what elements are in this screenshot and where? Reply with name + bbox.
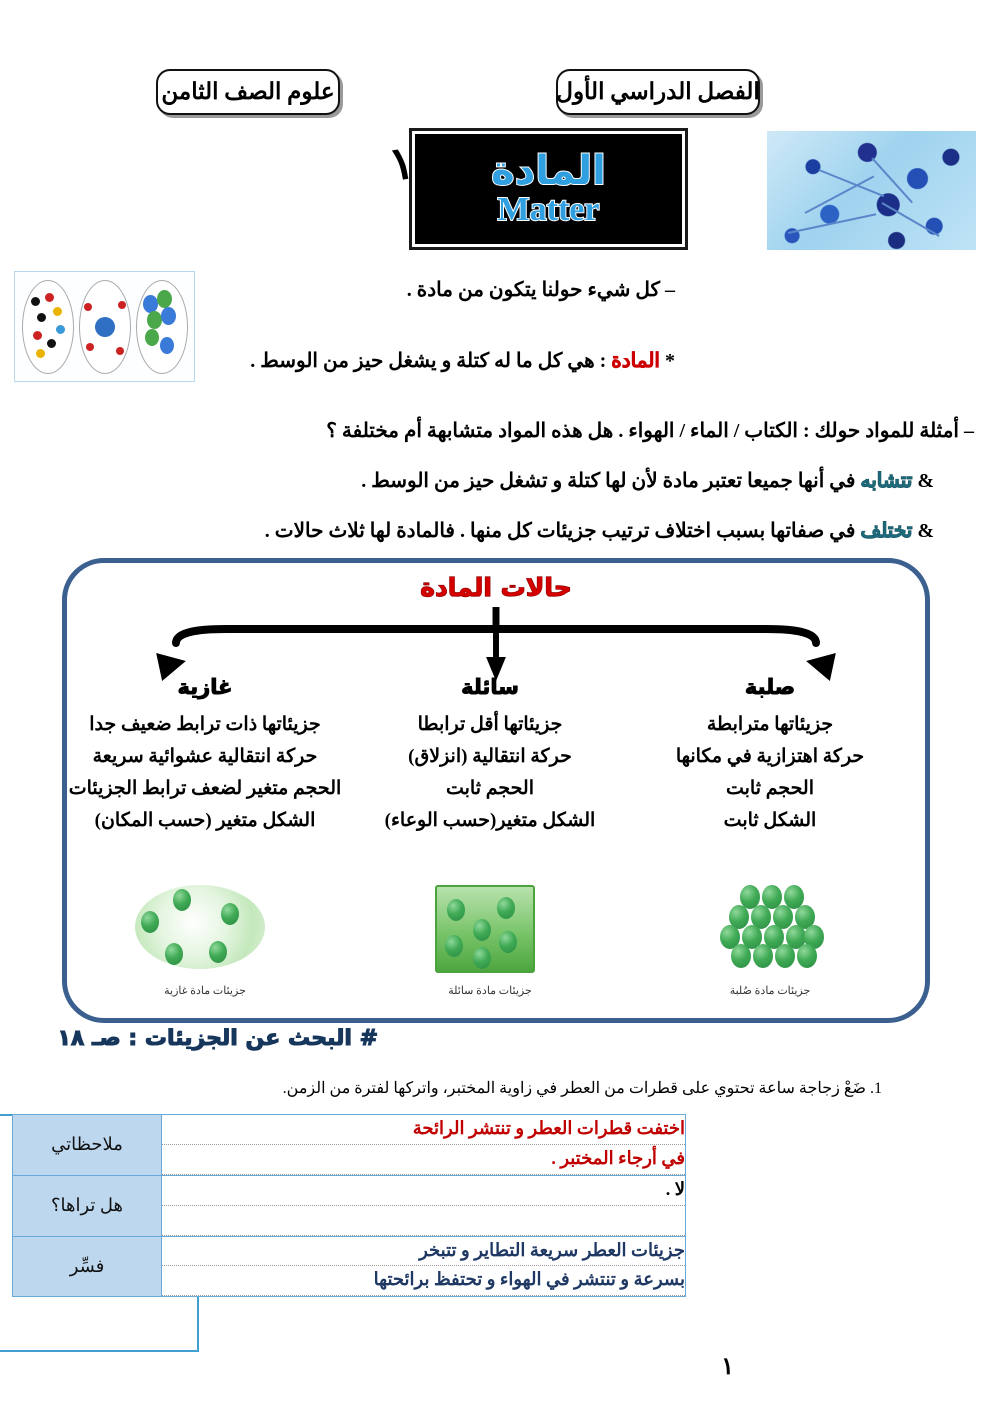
- grade-label-box: علوم الصف الثامن: [156, 69, 340, 115]
- state-property: حركة اهتزازية في مكانها: [625, 741, 915, 773]
- table-row: جزيئات العطر سريعة التطاير و تتبخر بسرعة…: [13, 1236, 686, 1297]
- atom-oval-compound: [22, 280, 74, 374]
- activity-heading: # البحث عن الجزيئات : صـ ١٨: [57, 1026, 378, 1051]
- state-property: الحجم متغير لضعف ترابط الجزيئات: [60, 773, 350, 805]
- state-property: جزيئاتها مترابطة: [625, 709, 915, 741]
- state-property: جزيئاتها ذات ترابط ضعيف جدا: [60, 709, 350, 741]
- gas-molecules-figure: جزيئات مادة غازية: [60, 883, 350, 983]
- bond-line: [881, 203, 939, 238]
- bullet-marker: &: [917, 470, 934, 492]
- term-label-text: الفصل الدراسي الأول: [556, 79, 760, 105]
- state-property: حركة انتقالية (انزلاق): [345, 741, 635, 773]
- table-row: اختفت قطرات العطر و تنتشر الرائحة في أرج…: [13, 1115, 686, 1176]
- state-property: الحجم ثابت: [345, 773, 635, 805]
- answer-line: في أرجاء المختبر .: [162, 1145, 685, 1175]
- grade-label-text: علوم الصف الثامن: [161, 79, 334, 105]
- row-label-observations: ملاحظاتي: [13, 1115, 162, 1176]
- state-column-liquid: سائلة جزيئاتها أقل ترابطا حركة انتقالية …: [345, 675, 635, 837]
- term-label-box: الفصل الدراسي الأول: [556, 69, 760, 115]
- keyword-different: تختلف: [860, 520, 912, 542]
- title-banner: المادة Matter: [412, 131, 685, 247]
- answer-cell-explanation[interactable]: جزيئات العطر سريعة التطاير و تتبخر بسرعة…: [162, 1236, 686, 1297]
- state-name-gas: غازية: [60, 675, 350, 699]
- answer-cell-observations[interactable]: اختفت قطرات العطر و تنتشر الرائحة في أرج…: [162, 1115, 686, 1176]
- row-label-visibility: هل تراها؟: [13, 1175, 162, 1236]
- state-property: جزيئاتها أقل ترابطا: [345, 709, 635, 741]
- matter-definition-line: * المادة : هي كل ما له كتلة و يشغل حيز م…: [250, 348, 675, 373]
- state-property: حركة انتقالية عشوائية سريعة: [60, 741, 350, 773]
- figure-caption: جزيئات مادة سائلة: [345, 984, 635, 997]
- answer-line: اختفت قطرات العطر و تنتشر الرائحة: [162, 1115, 685, 1145]
- state-property: الشكل ثابت: [625, 805, 915, 837]
- atom-oval-molecules: [136, 280, 188, 374]
- intro-everything-line: – كل شيء حولنا يتكون من مادة .: [407, 277, 675, 302]
- answer-cell-visibility[interactable]: لا .: [162, 1175, 686, 1236]
- states-box-title: حالات المادة: [67, 573, 925, 602]
- state-name-liquid: سائلة: [345, 675, 635, 699]
- figure-caption: جزيئات مادة صُلبة: [625, 984, 915, 997]
- similarity-text: في أنها جميعا تعتبر مادة لأن لها كتلة و …: [361, 470, 855, 492]
- figure-caption: جزيئات مادة غازية: [60, 984, 350, 997]
- activity-instruction: 1. ضَعْ زجاجة ساعة تحتوي على قطرات من ال…: [283, 1078, 882, 1098]
- title-arabic: المادة: [491, 151, 606, 191]
- liquid-molecules-figure: جزيئات مادة سائلة: [345, 883, 635, 983]
- state-property: الحجم ثابت: [625, 773, 915, 805]
- bond-line: [804, 175, 874, 213]
- bond-line: [788, 213, 876, 234]
- row-label-explanation: فسِّر: [13, 1236, 162, 1297]
- bullet-marker: &: [917, 520, 934, 542]
- definition-text: : هي كل ما له كتلة و يشغل حيز من الوسط .: [250, 350, 606, 372]
- answer-line-blank: [162, 1206, 685, 1236]
- worksheet-page: علوم الصف الثامن الفصل الدراسي الأول ١ ا…: [0, 0, 992, 1403]
- difference-line: & تختلف في صفاتها بسبب اختلاف ترتيب جزيئ…: [265, 518, 934, 543]
- similarity-line: & تتشابه في أنها جميعا تعتبر مادة لأن له…: [361, 468, 934, 493]
- activity-answers-table: اختفت قطرات العطر و تنتشر الرائحة في أرج…: [12, 1114, 686, 1297]
- keyword-similar: تتشابه: [861, 470, 913, 492]
- page-number: ١: [721, 1352, 734, 1381]
- state-property: الشكل متغير(حسب الوعاء): [345, 805, 635, 837]
- molecular-structure-photo: [767, 131, 976, 250]
- state-property: الشكل متغير (حسب المكان): [60, 805, 350, 837]
- difference-text: في صفاتها بسبب اختلاف ترتيب جزيئات كل من…: [265, 520, 856, 542]
- states-of-matter-box: حالات المادة صلبة جزيئاتها مترابطة حركة …: [62, 558, 930, 1023]
- state-column-solid: صلبة جزيئاتها مترابطة حركة اهتزازية في م…: [625, 675, 915, 837]
- solid-molecules-figure: جزيئات مادة صُلبة: [625, 883, 915, 983]
- answer-line: بسرعة و تنتشر في الهواء و تحتفظ برائحتها: [162, 1266, 685, 1296]
- bond-line: [871, 158, 913, 204]
- examples-line: – أمثلة للمواد حولك : الكتاب / الماء / ا…: [326, 418, 974, 443]
- table-row: لا . هل تراها؟: [13, 1175, 686, 1236]
- answer-line: جزيئات العطر سريعة التطاير و تتبخر: [162, 1237, 685, 1267]
- bond-line: [819, 169, 885, 197]
- atom-oval-nucleus: [79, 280, 131, 374]
- state-column-gas: غازية جزيئاتها ذات ترابط ضعيف جدا حركة ا…: [60, 675, 350, 837]
- answer-line: لا .: [162, 1176, 685, 1206]
- state-name-solid: صلبة: [625, 675, 915, 699]
- title-english: Matter: [498, 193, 600, 227]
- keyword-matter: المادة: [611, 350, 660, 372]
- definition-marker: *: [665, 350, 675, 372]
- atom-structure-figure: [14, 271, 195, 382]
